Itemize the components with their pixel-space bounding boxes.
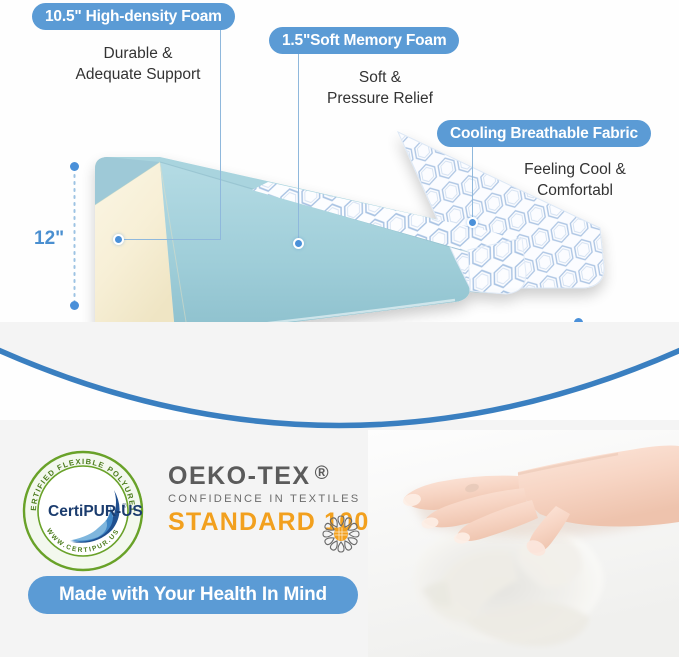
callout-pill-memory-foam[interactable]: 1.5"Soft Memory Foam [269,27,459,54]
callout-dot-cooling-fabric [467,217,478,228]
health-banner[interactable]: Made with Your Health In Mind [28,576,358,614]
dimension-label-height: 12" [34,228,64,250]
callout-pill-high-density-foam[interactable]: 10.5" High-density Foam [32,3,235,30]
leader-line-high-density [220,30,221,240]
dimension-endpoint-dot [70,162,79,171]
callout-dot-memory-foam [293,238,304,249]
callout-caption-high-density-foam: Durable & Adequate Support [58,44,218,86]
oekotex-flower-icon [319,512,363,556]
infographic-canvas: 12" 25" 24" 10.5" High-density Foam 1.5"… [0,0,679,657]
callout-pill-cooling-fabric[interactable]: Cooling Breathable Fabric [437,120,651,147]
certipur-brand-text: CertiPUR-US [48,503,143,520]
certipur-registered-mark: ® [122,503,127,510]
callout-caption-cooling-fabric: Feeling Cool & Comfortabl [490,160,660,202]
blue-arc-divider [0,300,679,500]
leader-line-high-density [120,239,221,240]
leader-line-cooling-fabric [472,147,473,223]
callout-caption-memory-foam: Soft & Pressure Relief [305,68,455,110]
callout-dot-high-density [113,234,124,245]
leader-line-memory-foam [298,54,299,244]
